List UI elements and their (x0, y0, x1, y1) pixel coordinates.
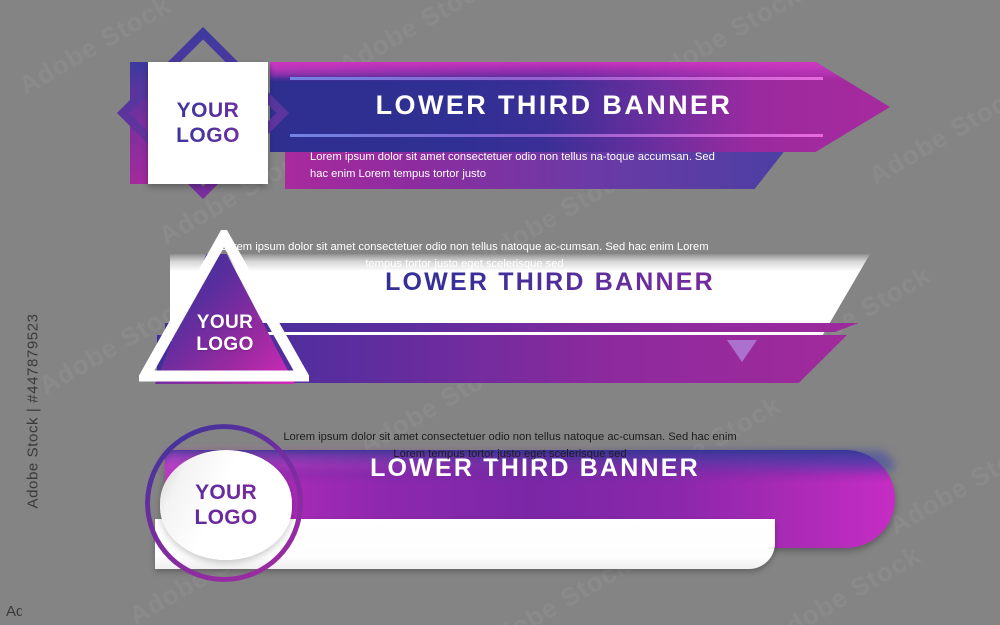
banner1-logo[interactable]: YOUR LOGO (148, 62, 268, 184)
banner1-title-text: LOWER THIRD BANNER (270, 90, 890, 121)
banner3-logo[interactable]: YOUR LOGO (160, 450, 292, 560)
banner2-logo-line1: YOUR (197, 312, 254, 334)
banner2-logo[interactable]: YOUR LOGO (155, 284, 295, 384)
banner1-accent-line-bottom (290, 134, 823, 137)
banner3-subtitle-text: Lorem ipsum dolor sit amet consectetuer … (275, 429, 745, 463)
banner3-logo-line1: YOUR (195, 480, 257, 505)
banner1-subtitle-text: Lorem ipsum dolor sit amet consectetuer … (310, 149, 730, 182)
banner1-logo-line2: LOGO (176, 123, 240, 148)
triangle-decoration-icon (727, 340, 757, 362)
artboard: Adobe Stock Adobe Stock Adobe Stock Adob… (0, 0, 1000, 625)
corner-watermark-label: Ad (6, 603, 22, 623)
lower-third-banner-circle[interactable]: LOWER THIRD BANNER Lorem ipsum dolor sit… (145, 422, 905, 582)
banner2-logo-line2: LOGO (196, 334, 254, 356)
banner2-title-text: LOWER THIRD BANNER (285, 268, 815, 297)
asset-id-label: Adobe Stock | #447879523 (25, 279, 42, 509)
banner3-logo-line2: LOGO (194, 505, 257, 530)
banner1-gloss-strip (270, 62, 890, 76)
lower-third-banner-triangle[interactable]: LOWER THIRD BANNER Lorem ipsum dolor sit… (145, 232, 885, 387)
banner1-accent-line-top (290, 77, 823, 80)
banner1-title-bar: LOWER THIRD BANNER (270, 62, 890, 152)
banner1-logo-line1: YOUR (177, 98, 240, 123)
lower-third-banner-diamond[interactable]: Lorem ipsum dolor sit amet consectetuer … (130, 40, 890, 205)
